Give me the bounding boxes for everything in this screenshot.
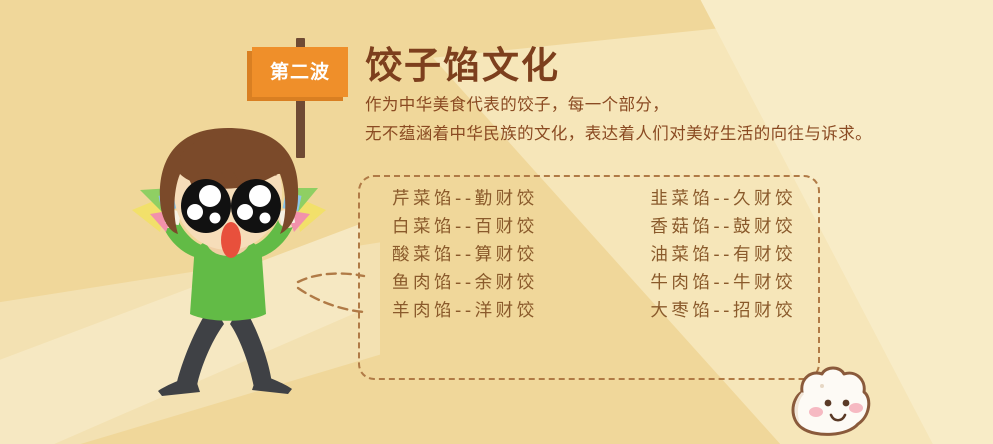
filling-right-1: 韭菜馅--久财饺 xyxy=(650,189,800,210)
filling-right-3: 油菜馅--有财饺 xyxy=(650,245,800,266)
filling-left-5: 羊肉馅--洋财饺 xyxy=(378,301,538,322)
girl-left-foot xyxy=(158,380,200,396)
dumpling-left-eye xyxy=(825,400,832,407)
excited-girl-illustration xyxy=(120,128,350,398)
filling-left-4: 鱼肉馅--余财饺 xyxy=(378,273,538,294)
girl-right-foot xyxy=(252,378,292,394)
fillings-list: 芹菜馅--勤财饺 韭菜馅--久财饺 白菜馅--百财饺 香菇馅--鼓财饺 酸菜馅-… xyxy=(358,175,820,380)
list-item: 芹菜馅--勤财饺 韭菜馅--久财饺 xyxy=(378,189,800,210)
header-text-block: 饺子馅文化 作为中华美食代表的饺子，每一个部分， 无不蕴涵着中华民族的文化，表达… xyxy=(365,45,965,148)
filling-left-1: 芹菜馅--勤财饺 xyxy=(378,189,538,210)
filling-right-2: 香菇馅--鼓财饺 xyxy=(650,217,800,238)
dumpling-right-blush xyxy=(849,403,863,413)
dumpling-left-blush xyxy=(809,407,823,417)
list-item: 白菜馅--百财饺 香菇馅--鼓财饺 xyxy=(378,217,800,238)
list-item: 羊肉馅--洋财饺 大枣馅--招财饺 xyxy=(378,301,800,322)
infographic-banner: 第二波 饺子馅文化 作为中华美食代表的饺子，每一个部分， 无不蕴涵着中华民族的文… xyxy=(0,0,993,444)
girl-left-eye xyxy=(181,179,231,233)
girl-right-eye xyxy=(231,179,281,233)
girl-mouth xyxy=(221,222,241,258)
subtitle-line-1: 作为中华美食代表的饺子，每一个部分， xyxy=(365,92,965,119)
filling-right-5: 大枣馅--招财饺 xyxy=(650,301,800,322)
section-sign-label: 第二波 xyxy=(270,63,330,82)
smiling-dumpling-mascot xyxy=(782,362,874,442)
filling-left-3: 酸菜馅--算财饺 xyxy=(378,245,538,266)
list-item: 酸菜馅--算财饺 油菜馅--有财饺 xyxy=(378,245,800,266)
filling-left-2: 白菜馅--百财饺 xyxy=(378,217,538,238)
dumpling-body xyxy=(793,368,869,434)
list-item: 鱼肉馅--余财饺 牛肉馅--牛财饺 xyxy=(378,273,800,294)
dumpling-right-eye xyxy=(843,400,850,407)
filling-right-4: 牛肉馅--牛财饺 xyxy=(650,273,800,294)
subtitle-line-2: 无不蕴涵着中华民族的文化，表达着人们对美好生活的向往与诉求。 xyxy=(365,121,965,148)
page-title: 饺子馅文化 xyxy=(365,45,965,86)
section-sign-board: 第二波 xyxy=(252,47,348,97)
dumpling-highlight xyxy=(820,384,824,388)
